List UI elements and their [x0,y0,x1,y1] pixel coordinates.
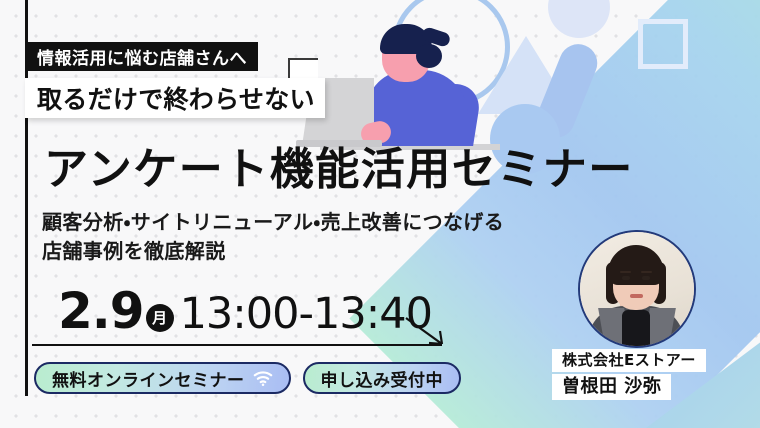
avatar-mouth [630,294,643,298]
speaker-company: 株式会社Eストアー [552,350,706,370]
event-date: 2.9 [58,288,144,336]
badge-row: 無料オンラインセミナー 申し込み受付中 [34,362,461,394]
subtitle: 顧客分析・サイトリニューアル・売上改善につなげる 店舗事例を徹底解説 [42,208,504,266]
person-hair-bun [416,44,442,68]
badge-label: 申し込み受付中 [321,366,444,391]
badge-free-online-seminar[interactable]: 無料オンラインセミナー [34,362,291,394]
page-title: アンケート機能活用セミナー [44,148,634,192]
kicker-banner-black: 情報活用に悩む店舗さんへ [25,42,258,71]
speaker-avatar [578,230,696,348]
speaker-name: 曽根田 沙弥 [552,375,671,399]
avatar-brow-right [641,271,652,273]
square-outline-shape [638,19,688,69]
badge-label: 無料オンラインセミナー [52,366,245,391]
kicker-sub-text: 取るだけで終わらせない [37,80,315,116]
speaker-company-label: 株式会社Eストアー [552,349,706,372]
subtitle-line-2: 店舗事例を徹底解説 [42,237,504,266]
badge-applications-open[interactable]: 申し込み受付中 [303,362,462,394]
avatar-eye-right [642,276,650,280]
avatar-brow-left [620,271,631,273]
kicker-banner-white: 取るだけで終わらせない [25,78,325,118]
speaker-name-label: 曽根田 沙弥 [552,374,671,400]
person-at-laptop-illustration [330,18,500,164]
pale-circle-shape [548,0,610,38]
seminar-banner: 情報活用に悩む店舗さんへ 取るだけで終わらせない アンケート機能活用セミナー 顧… [0,0,760,428]
avatar-inner-top [622,310,650,348]
wifi-icon [253,370,273,386]
weekday-badge: 月 [146,304,174,332]
kicker-text: 情報活用に悩む店舗さんへ [37,44,247,69]
avatar-eye-left [622,276,630,280]
subtitle-line-1: 顧客分析・サイトリニューアル・売上改善につなげる [42,208,504,237]
event-time: 13:00-13:40 [180,293,432,336]
schedule-underline [32,344,442,346]
schedule-line: 2.9 月 13:00-13:40 [58,288,432,336]
arrow-icon [404,316,446,346]
